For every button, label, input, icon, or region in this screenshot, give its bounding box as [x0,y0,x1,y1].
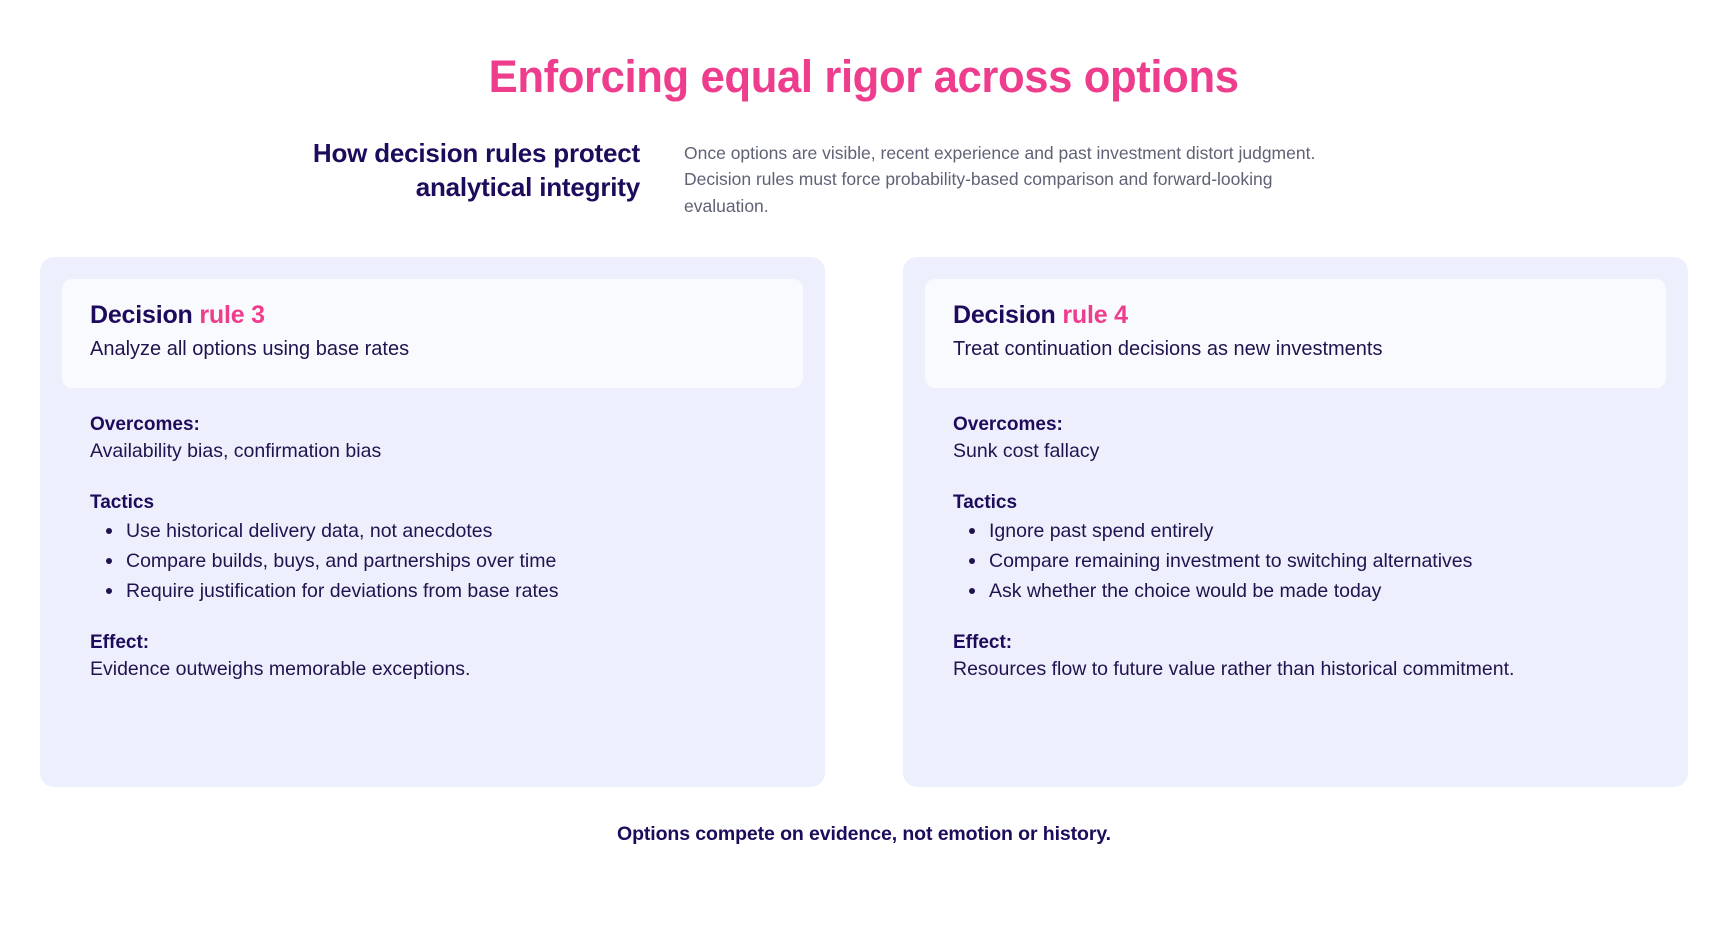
footer-container: Options compete on evidence, not emotion… [0,823,1728,846]
footer-text: Options compete on evidence, not emotion… [0,823,1728,846]
effect-section-4: Effect: Resources flow to future value r… [953,632,1660,684]
card-header-4: Decision rule 4 Treat continuation decis… [925,279,1666,388]
tactics-label-4: Tactics [953,492,1660,514]
card-subtitle-4: Treat continuation decisions as new inve… [953,336,1638,362]
card-body-4: Overcomes: Sunk cost fallacy Tactics Ign… [925,414,1666,683]
card-header-3: Decision rule 3 Analyze all options usin… [62,279,803,388]
slide-root: Enforcing equal rigor across options How… [0,0,1728,943]
card-subtitle-3: Analyze all options using base rates [90,336,775,362]
intro-section: How decision rules protect analytical in… [0,136,1728,220]
card-title-prefix-4: Decision [953,301,1056,329]
intro-heading-line-1: How decision rules protect [313,138,640,168]
list-item: Compare builds, buys, and partnerships o… [124,546,797,576]
title-container: Enforcing equal rigor across options [0,52,1728,102]
tactics-list-4: Ignore past spend entirely Compare remai… [953,516,1660,606]
overcomes-section-3: Overcomes: Availability bias, confirmati… [90,414,797,466]
tactics-section-3: Tactics Use historical delivery data, no… [90,492,797,606]
overcomes-text-4: Sunk cost fallacy [953,438,1660,466]
decision-rule-card-3: Decision rule 3 Analyze all options usin… [40,257,825,787]
intro-heading-line-2: analytical integrity [416,172,640,202]
tactics-section-4: Tactics Ignore past spend entirely Compa… [953,492,1660,606]
cards-container: Decision rule 3 Analyze all options usin… [0,257,1728,787]
list-item: Require justification for deviations fro… [124,576,797,606]
overcomes-label-4: Overcomes: [953,414,1660,436]
decision-rule-card-4: Decision rule 4 Treat continuation decis… [903,257,1688,787]
effect-section-3: Effect: Evidence outweighs memorable exc… [90,632,797,684]
list-item: Ignore past spend entirely [987,516,1660,546]
effect-text-3: Evidence outweighs memorable exceptions. [90,656,797,684]
list-item: Use historical delivery data, not anecdo… [124,516,797,546]
card-title-accent-3: rule 3 [199,301,265,329]
intro-body-text: Once options are visible, recent experie… [684,140,1324,220]
effect-label-4: Effect: [953,632,1660,654]
effect-label-3: Effect: [90,632,797,654]
overcomes-text-3: Availability bias, confirmation bias [90,438,797,466]
tactics-list-3: Use historical delivery data, not anecdo… [90,516,797,606]
intro-heading: How decision rules protect analytical in… [40,136,640,205]
intro-body-column: Once options are visible, recent experie… [680,136,1324,220]
card-title-4: Decision rule 4 [953,301,1638,330]
overcomes-section-4: Overcomes: Sunk cost fallacy [953,414,1660,466]
tactics-label-3: Tactics [90,492,797,514]
list-item: Compare remaining investment to switchin… [987,546,1660,576]
card-title-3: Decision rule 3 [90,301,775,330]
page-title: Enforcing equal rigor across options [489,52,1239,102]
list-item: Ask whether the choice would be made tod… [987,576,1660,606]
overcomes-label-3: Overcomes: [90,414,797,436]
intro-heading-column: How decision rules protect analytical in… [40,136,680,205]
card-title-prefix-3: Decision [90,301,193,329]
card-body-3: Overcomes: Availability bias, confirmati… [62,414,803,683]
card-title-accent-4: rule 4 [1062,301,1128,329]
effect-text-4: Resources flow to future value rather th… [953,656,1660,684]
